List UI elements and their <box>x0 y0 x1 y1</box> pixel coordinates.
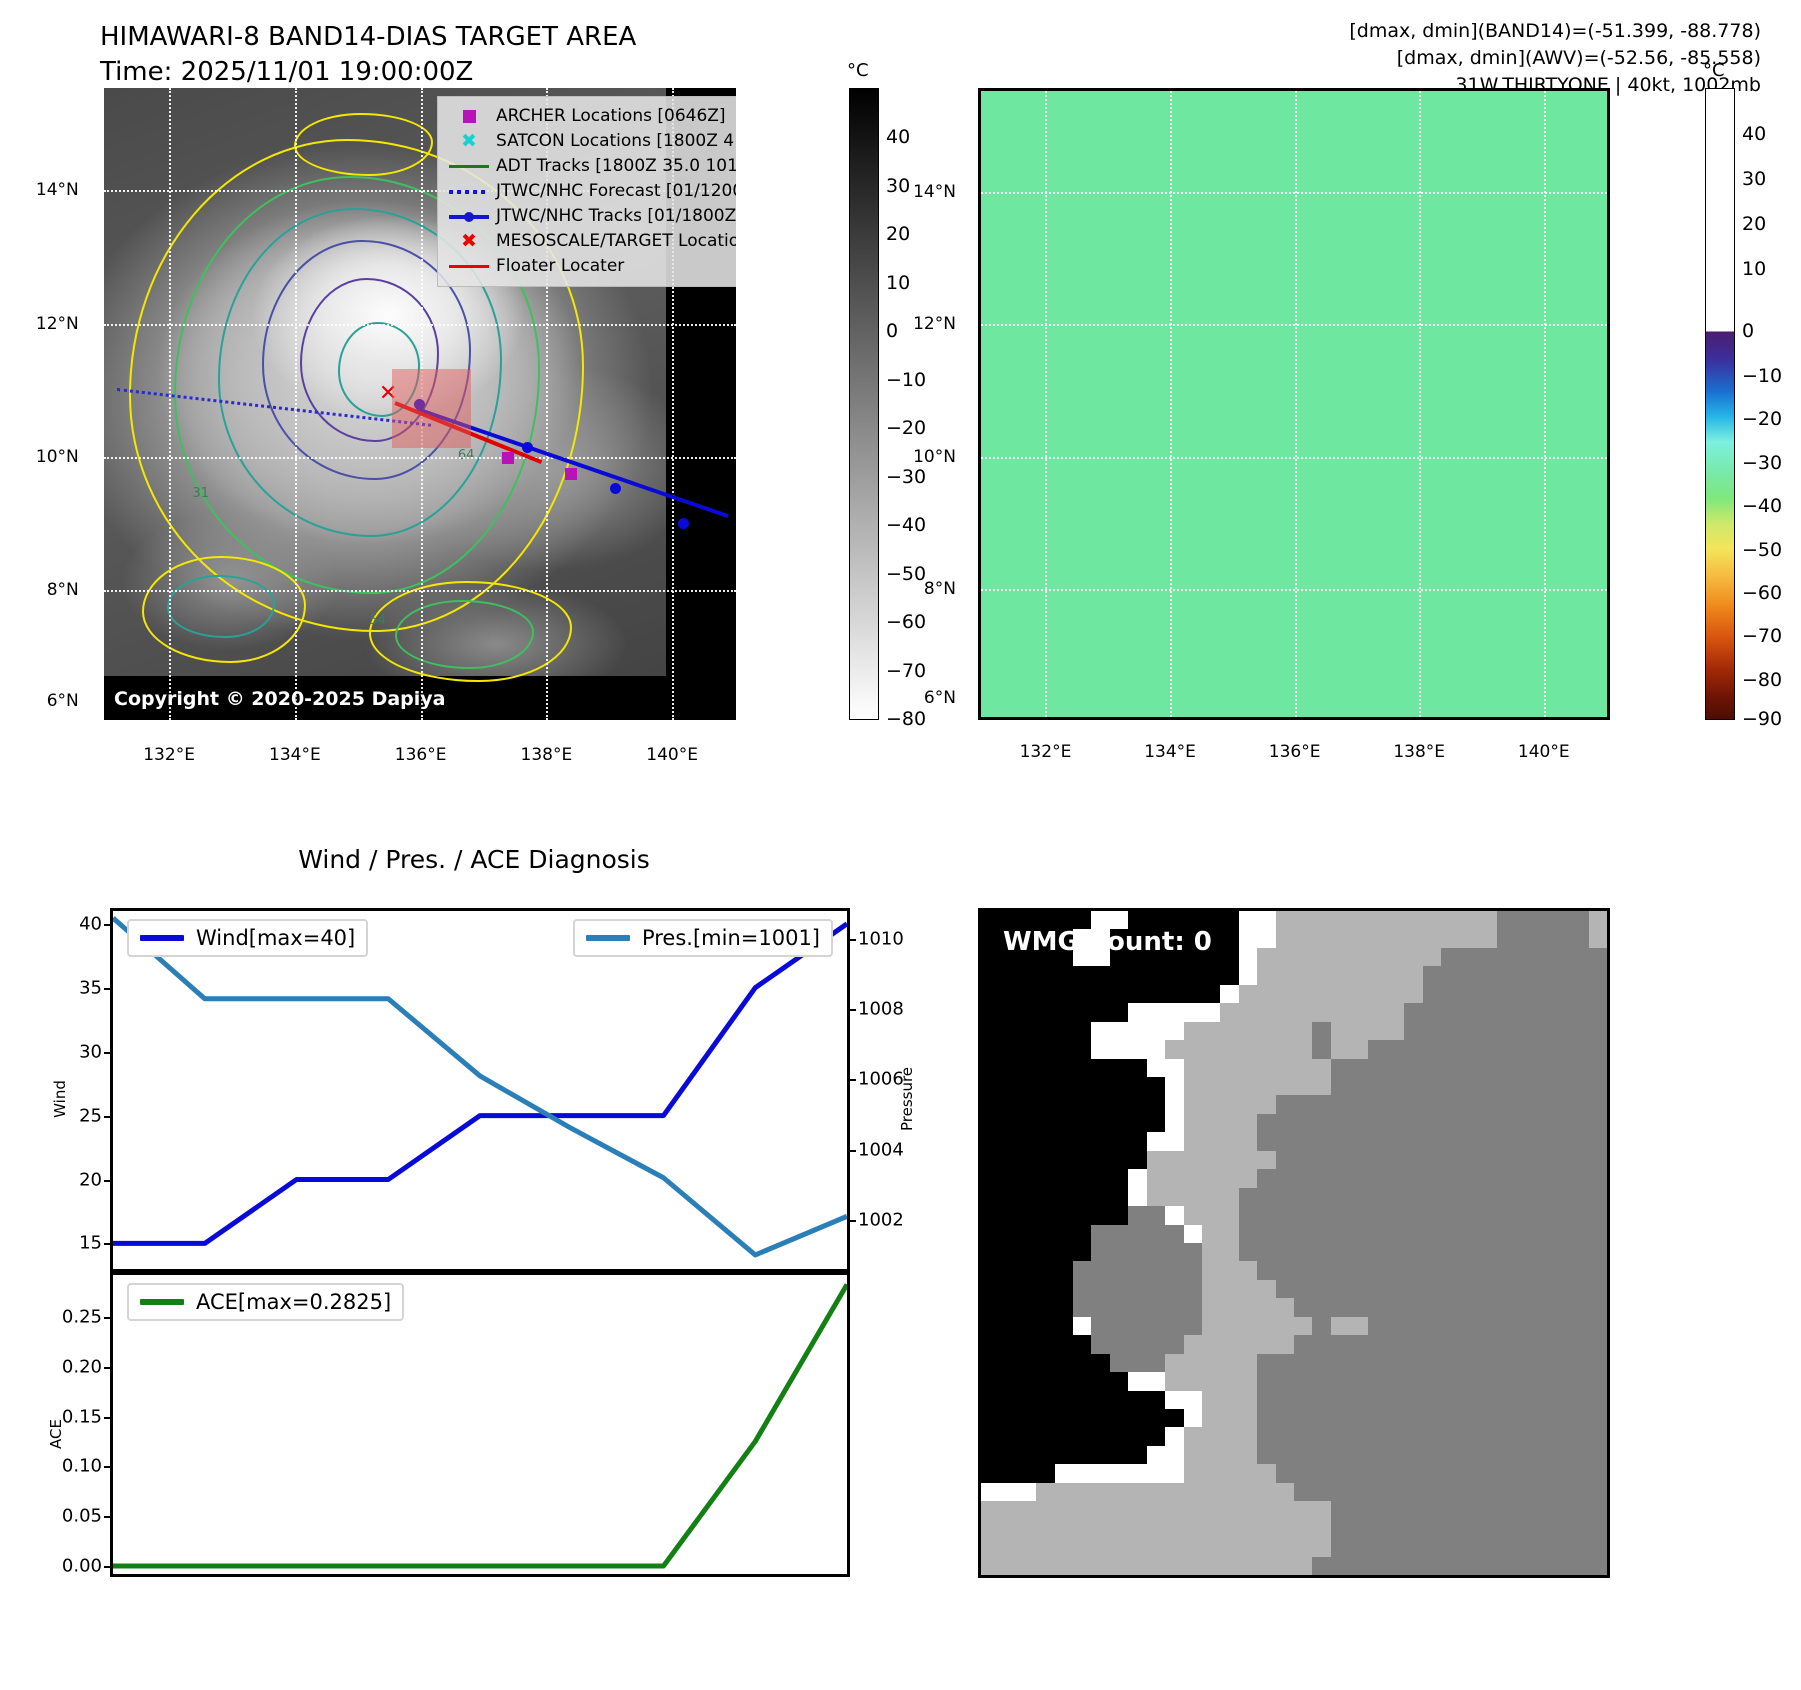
wmg-cell <box>981 1077 1000 1096</box>
wmg-cell <box>1073 1206 1092 1225</box>
wmg-cell <box>1460 1483 1479 1502</box>
wmg-cell <box>1515 1335 1534 1354</box>
wmg-cell <box>981 1003 1000 1022</box>
wmg-cell <box>1552 1409 1571 1428</box>
wmg-cell <box>1441 1409 1460 1428</box>
wmg-cell <box>1423 1095 1442 1114</box>
wmg-cell <box>1110 1003 1129 1022</box>
wmg-cell <box>1441 1261 1460 1280</box>
wmg-cell <box>1441 1206 1460 1225</box>
wmg-cell <box>1073 966 1092 985</box>
wmg-cell <box>1423 966 1442 985</box>
wmg-cell <box>1349 1077 1368 1096</box>
wmg-cell <box>1497 1114 1516 1133</box>
contour-green-se <box>395 600 534 670</box>
wmg-cell <box>1257 966 1276 985</box>
wmg-cell <box>1276 1409 1295 1428</box>
wmg-cell <box>1128 1409 1147 1428</box>
wmg-cell <box>1497 966 1516 985</box>
wmg-cell <box>1073 1354 1092 1373</box>
wmg-cell <box>1515 1095 1534 1114</box>
legend-item-archer[interactable]: ARCHER Locations [0646Z] <box>446 104 736 129</box>
band14-lon-tick-140E: 140°E <box>646 745 698 765</box>
wmg-cell <box>1570 929 1589 948</box>
wmg-cell <box>1220 1538 1239 1557</box>
wmg-cell <box>1128 1483 1147 1502</box>
wmg-cell <box>1055 1483 1074 1502</box>
wmg-cell <box>1460 911 1479 930</box>
wmg-cell <box>1349 1003 1368 1022</box>
wmg-cell <box>1073 1169 1092 1188</box>
wmg-cell <box>1423 1409 1442 1428</box>
wmg-cell <box>1147 1022 1166 1041</box>
wmg-cell <box>1589 929 1608 948</box>
wmg-cell <box>1257 1391 1276 1410</box>
wmg-cell <box>1276 1132 1295 1151</box>
wmg-cell <box>1036 1077 1055 1096</box>
wmg-cell <box>1460 1427 1479 1446</box>
wmg-cell <box>1386 985 1405 1004</box>
wmg-cell <box>1257 1372 1276 1391</box>
wmg-cell <box>1497 1169 1516 1188</box>
wmg-cell <box>1552 1317 1571 1336</box>
wmg-cell <box>1331 1317 1350 1336</box>
wmg-cell <box>1404 1169 1423 1188</box>
wmg-cell <box>1036 1261 1055 1280</box>
wmg-cell <box>1110 1317 1129 1336</box>
wmg-cell <box>1294 1132 1313 1151</box>
wmg-cell <box>981 1372 1000 1391</box>
wmg-cell <box>1349 1169 1368 1188</box>
wmg-cell <box>999 1059 1018 1078</box>
pressure-tickmark-1004 <box>847 1150 856 1152</box>
wmg-cell <box>1497 1243 1516 1262</box>
wmg-cell <box>1331 1372 1350 1391</box>
wmg-cell <box>1202 1446 1221 1465</box>
wmg-cell <box>1294 1169 1313 1188</box>
wmg-cell <box>1276 1483 1295 1502</box>
wmg-cell <box>981 1040 1000 1059</box>
cyan-x-marker-icon: ✖ <box>446 132 492 151</box>
wmg-cell <box>1497 1206 1516 1225</box>
wmg-cell <box>1423 985 1442 1004</box>
wmg-cell <box>1589 1114 1608 1133</box>
ace-legend[interactable]: ACE[max=0.2825] <box>127 1283 404 1321</box>
wmg-cell <box>1257 1409 1276 1428</box>
wmg-cell <box>1018 1022 1037 1041</box>
wmg-cell <box>1257 1446 1276 1465</box>
wmg-cell <box>1036 1464 1055 1483</box>
wmg-cell <box>1533 1151 1552 1170</box>
wmg-cell <box>1533 1022 1552 1041</box>
wmg-cell <box>1110 1040 1129 1059</box>
wmg-cell <box>1404 1464 1423 1483</box>
wmg-cell <box>1184 1022 1203 1041</box>
wmg-cell <box>1220 1132 1239 1151</box>
wmg-cell <box>1589 1225 1608 1244</box>
wmg-cell <box>1220 1169 1239 1188</box>
wmg-cell <box>1386 1169 1405 1188</box>
wmg-cell <box>1147 1557 1166 1576</box>
wmg-cell <box>1368 1095 1387 1114</box>
wmg-cell <box>1478 1059 1497 1078</box>
wmg-cell <box>1460 1520 1479 1539</box>
wmg-cell <box>1497 1427 1516 1446</box>
legend-item-mesoscale[interactable]: ✖ MESOSCALE/TARGET Location <box>446 229 736 254</box>
wmg-cell <box>1570 1114 1589 1133</box>
wmg-cell <box>1018 1114 1037 1133</box>
wind-tickmark-35 <box>104 988 113 990</box>
wmg-cell <box>1478 911 1497 930</box>
wmg-cell <box>1515 1391 1534 1410</box>
wmg-cell <box>1386 911 1405 930</box>
wmg-cell <box>1128 1298 1147 1317</box>
wmg-cell <box>1349 948 1368 967</box>
wmg-cell <box>1515 1280 1534 1299</box>
wmg-cell <box>1441 948 1460 967</box>
wmg-cell <box>1533 1298 1552 1317</box>
wmg-cell <box>1055 1040 1074 1059</box>
wmg-cell <box>1091 1114 1110 1133</box>
wmg-cell <box>1091 1446 1110 1465</box>
wmg-cell <box>1202 1427 1221 1446</box>
wmg-cell <box>1073 1059 1092 1078</box>
ace-tickmark-0.20 <box>104 1367 113 1369</box>
wmg-cell <box>1533 1243 1552 1262</box>
wmg-cell <box>1091 1132 1110 1151</box>
wmg-cell <box>981 1188 1000 1207</box>
wmg-cell <box>1589 1280 1608 1299</box>
wmg-cell <box>1073 1280 1092 1299</box>
green-line-icon <box>446 165 492 168</box>
wmg-cell <box>1478 1022 1497 1041</box>
wmg-cell <box>1404 1298 1423 1317</box>
wmg-cell <box>1312 1077 1331 1096</box>
wmg-cell <box>1018 1169 1037 1188</box>
wmg-cell <box>1110 1538 1129 1557</box>
wmg-cell <box>1128 1003 1147 1022</box>
wmg-cell <box>1349 1243 1368 1262</box>
wmg-cell <box>1091 1206 1110 1225</box>
wmg-cell <box>1110 1151 1129 1170</box>
wmg-cell <box>1331 1059 1350 1078</box>
wmg-cell <box>1533 1077 1552 1096</box>
wmg-cell <box>1276 1391 1295 1410</box>
wmg-cell <box>1147 1151 1166 1170</box>
wmg-cell <box>1478 1372 1497 1391</box>
wmg-cell <box>1552 1188 1571 1207</box>
wmg-cell <box>999 1280 1018 1299</box>
wmg-cell <box>1239 1354 1258 1373</box>
wmg-cell <box>1478 985 1497 1004</box>
cbar-left-tick-m20: −20 <box>886 417 926 439</box>
band14-lon-tick-134E: 134°E <box>269 745 321 765</box>
wmg-cell <box>1368 1317 1387 1336</box>
wmg-cell <box>1055 1132 1074 1151</box>
wmg-cell <box>1368 929 1387 948</box>
wmg-cell <box>1091 1280 1110 1299</box>
wmg-cell <box>1368 1391 1387 1410</box>
wmg-cell <box>1036 985 1055 1004</box>
wmg-cell <box>1478 1464 1497 1483</box>
wmg-cell <box>981 1059 1000 1078</box>
wmg-cell <box>1184 1483 1203 1502</box>
wmg-cell <box>1110 1409 1129 1428</box>
wmg-cell <box>1091 1557 1110 1576</box>
band14-satellite-panel[interactable]: 31 54 64 ✕ Copyright © 2020-2025 Dapiya <box>104 88 736 720</box>
wmg-cell <box>1497 1501 1516 1520</box>
wmg-cell <box>1036 1298 1055 1317</box>
wmg-cell <box>1147 1427 1166 1446</box>
wmg-cell <box>1055 1317 1074 1336</box>
wmg-cell <box>1018 985 1037 1004</box>
wmg-cell <box>1257 1077 1276 1096</box>
wmg-cell <box>1331 966 1350 985</box>
wmg-cell <box>1018 1446 1037 1465</box>
wmg-cell <box>1220 1243 1239 1262</box>
wmg-cell <box>1460 1335 1479 1354</box>
wmg-cell <box>1497 929 1516 948</box>
wmg-cell <box>1515 1077 1534 1096</box>
ace-chart[interactable]: ACE[max=0.2825] ACE 0.000.050.100.150.20… <box>110 1272 850 1577</box>
wmg-cell <box>1018 1501 1037 1520</box>
wmg-cell <box>1184 1427 1203 1446</box>
wmg-cell <box>1349 1483 1368 1502</box>
wmg-cell <box>1091 1040 1110 1059</box>
wmg-cell <box>1423 1298 1442 1317</box>
wmg-cell <box>1165 966 1184 985</box>
wmg-cell <box>1552 1040 1571 1059</box>
wmg-cell <box>1220 1206 1239 1225</box>
wmg-cell <box>1423 1169 1442 1188</box>
legend-item-floater[interactable]: Floater Locater <box>446 254 736 279</box>
wmg-cell <box>1441 1132 1460 1151</box>
wmg-cell <box>1184 1354 1203 1373</box>
wind-legend[interactable]: Wind[max=40] <box>127 919 368 957</box>
pressure-line-icon <box>586 935 630 941</box>
wmg-cell <box>1091 1261 1110 1280</box>
legend-item-forecast[interactable]: JTWC/NHC Forecast [01/1200Z] <box>446 179 736 204</box>
wmg-cell <box>1441 985 1460 1004</box>
wmg-cell <box>981 1446 1000 1465</box>
wmg-cell <box>1257 1354 1276 1373</box>
wmg-cell <box>981 1520 1000 1539</box>
cbar-left-tick-m30: −30 <box>886 466 926 488</box>
wmg-cell <box>1460 1298 1479 1317</box>
wmg-cell <box>1091 1059 1110 1078</box>
wmg-cell <box>1552 966 1571 985</box>
wmg-cell <box>1128 1261 1147 1280</box>
wmg-cell <box>1165 1225 1184 1244</box>
wmg-cell <box>1091 1022 1110 1041</box>
wmg-cell <box>1423 1114 1442 1133</box>
wmg-cell <box>1018 1391 1037 1410</box>
wmg-cell <box>1349 1464 1368 1483</box>
wmg-cell <box>1073 1464 1092 1483</box>
wmg-cell <box>1570 1169 1589 1188</box>
wmg-cell <box>1441 1483 1460 1502</box>
gridline-lon-132E <box>169 88 171 720</box>
wmg-cell <box>1589 1095 1608 1114</box>
wmg-cell <box>1533 985 1552 1004</box>
wmg-cell <box>1460 1261 1479 1280</box>
wmg-cell <box>1589 1298 1608 1317</box>
wmg-cell <box>1368 1243 1387 1262</box>
wmg-cell <box>1368 1557 1387 1576</box>
wmg-cell <box>1202 1188 1221 1207</box>
wmg-panel[interactable]: WMG Count: 0 <box>978 908 1610 1578</box>
wmg-cell <box>1184 1409 1203 1428</box>
wmg-cell <box>1036 1059 1055 1078</box>
wmg-cell <box>1349 1188 1368 1207</box>
legend-item-adt[interactable]: ADT Tracks [1800Z 35.0 1010.2] <box>446 154 736 179</box>
wmg-count-label: WMG Count: 0 <box>1003 927 1212 957</box>
wmg-cell <box>1091 1427 1110 1446</box>
wmg-cell <box>1036 1243 1055 1262</box>
wmg-cell <box>1533 1391 1552 1410</box>
wmg-cell <box>1386 1501 1405 1520</box>
wmg-cell <box>1018 1003 1037 1022</box>
wmg-cell <box>1128 1059 1147 1078</box>
wmg-cell <box>1239 1317 1258 1336</box>
wmg-cell <box>1423 1003 1442 1022</box>
wmg-cell <box>1018 1188 1037 1207</box>
wmg-cell <box>1294 1206 1313 1225</box>
wmg-cell <box>1036 1446 1055 1465</box>
awv-satellite-panel[interactable]: 14°N 12°N 10°N 8°N 6°N 132°E 134°E 136°E… <box>978 88 1610 720</box>
wmg-cell <box>1073 1225 1092 1244</box>
band14-legend[interactable]: ARCHER Locations [0646Z] ✖ SATCON Locati… <box>437 96 736 287</box>
wmg-cell <box>1128 1427 1147 1446</box>
wmg-cell <box>1110 1280 1129 1299</box>
wmg-cell <box>1423 948 1442 967</box>
wmg-cell <box>1386 1391 1405 1410</box>
wmg-cell <box>1276 1280 1295 1299</box>
wmg-cell <box>1368 1501 1387 1520</box>
wmg-cell <box>1312 1409 1331 1428</box>
wmg-cell <box>1552 1538 1571 1557</box>
wmg-cell <box>1257 1483 1276 1502</box>
awv-lon-tick-138E: 138°E <box>1393 742 1445 762</box>
wmg-cell <box>1128 1022 1147 1041</box>
wmg-cell <box>1257 1317 1276 1336</box>
wmg-cell <box>1441 1372 1460 1391</box>
wmg-cell <box>1239 1206 1258 1225</box>
wmg-cell <box>1386 1151 1405 1170</box>
wmg-cell <box>1073 1132 1092 1151</box>
wmg-cell <box>1478 1298 1497 1317</box>
legend-item-satcon[interactable]: ✖ SATCON Locations [1800Z 41 1001] <box>446 129 736 154</box>
wmg-cell <box>1018 1557 1037 1576</box>
wmg-cell <box>1239 1391 1258 1410</box>
wmg-cell <box>1091 1003 1110 1022</box>
wmg-cell <box>1110 1261 1129 1280</box>
wmg-cell <box>981 1335 1000 1354</box>
series-windmax <box>113 924 847 1244</box>
wmg-cell <box>1110 1114 1129 1133</box>
wmg-cell <box>1276 1003 1295 1022</box>
wmg-cell <box>1018 1372 1037 1391</box>
wmg-cell <box>1128 1446 1147 1465</box>
wmg-cell <box>1386 1335 1405 1354</box>
wmg-cell <box>1552 1391 1571 1410</box>
wmg-cell <box>1533 1464 1552 1483</box>
wmg-cell <box>999 1501 1018 1520</box>
target-area-box <box>392 369 471 448</box>
wmg-cell <box>1386 1354 1405 1373</box>
wmg-cell <box>1441 1095 1460 1114</box>
contour-teal-sw <box>167 575 274 638</box>
wmg-cell <box>1552 948 1571 967</box>
wmg-cell <box>1239 1501 1258 1520</box>
wmg-cell <box>1497 1095 1516 1114</box>
diagnosis-title: Wind / Pres. / ACE Diagnosis <box>104 845 844 874</box>
wmg-cell <box>1497 1022 1516 1041</box>
wmg-cell <box>1331 1151 1350 1170</box>
wmg-cell <box>1036 1206 1055 1225</box>
band14-lat-tick-10N: 10°N <box>36 447 79 467</box>
wmg-cell <box>1257 1261 1276 1280</box>
wmg-cell <box>1184 1114 1203 1133</box>
copyright-text: Copyright © 2020-2025 Dapiya <box>114 688 445 710</box>
wmg-cell <box>1423 911 1442 930</box>
wmg-cell <box>1497 1391 1516 1410</box>
wmg-cell <box>1055 1188 1074 1207</box>
legend-item-tracks[interactable]: JTWC/NHC Tracks [01/1800Z] <box>446 204 736 229</box>
wmg-cell <box>981 985 1000 1004</box>
wmg-cell <box>1312 948 1331 967</box>
wmg-cell <box>1404 1317 1423 1336</box>
wmg-cell <box>1589 1132 1608 1151</box>
wmg-cell <box>1331 1483 1350 1502</box>
wmg-cell <box>1110 1483 1129 1502</box>
wmg-cell <box>1460 929 1479 948</box>
wmg-cell <box>1570 1188 1589 1207</box>
wmg-cell <box>1349 1040 1368 1059</box>
wmg-cell <box>1386 1040 1405 1059</box>
wmg-cell <box>981 1132 1000 1151</box>
wmg-cell <box>1165 1261 1184 1280</box>
wmg-cell <box>1165 1538 1184 1557</box>
wmg-cell <box>1276 1151 1295 1170</box>
wmg-cell <box>1589 1391 1608 1410</box>
legend-label-tracks: JTWC/NHC Tracks [01/1800Z] <box>492 208 736 225</box>
wmg-cell <box>1257 1059 1276 1078</box>
wmg-cell <box>1294 1557 1313 1576</box>
wmg-cell <box>1349 1317 1368 1336</box>
wmg-cell <box>1147 1225 1166 1244</box>
wmg-cell <box>1128 1188 1147 1207</box>
wmg-cell <box>1331 1538 1350 1557</box>
wmg-cell <box>1423 1022 1442 1041</box>
wmg-cell <box>1552 1095 1571 1114</box>
wmg-cell <box>1294 1501 1313 1520</box>
wmg-cell <box>981 1022 1000 1041</box>
wmg-cell <box>1368 1151 1387 1170</box>
wind-pressure-chart[interactable]: Wind[max=40] Pres.[min=1001] Wind Pressu… <box>110 908 850 1272</box>
wmg-cell <box>1184 1538 1203 1557</box>
wmg-cell <box>1220 1151 1239 1170</box>
awv-lon-tick-134E: 134°E <box>1144 742 1196 762</box>
pressure-legend[interactable]: Pres.[min=1001] <box>573 919 833 957</box>
wmg-cell <box>1220 1298 1239 1317</box>
wmg-cell <box>1073 1557 1092 1576</box>
wmg-cell <box>1552 1132 1571 1151</box>
wmg-cell <box>1404 1095 1423 1114</box>
archer-location-marker-2 <box>565 468 577 480</box>
wmg-cell <box>1386 1464 1405 1483</box>
wmg-cell <box>1478 948 1497 967</box>
